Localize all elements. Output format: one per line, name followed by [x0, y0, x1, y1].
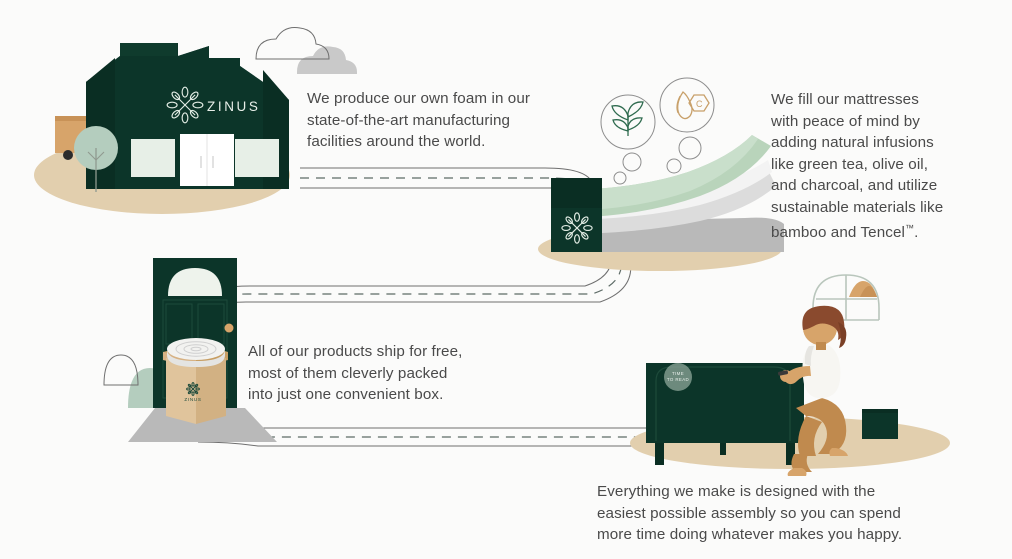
door-knob [225, 324, 234, 333]
caption-step-2-l1: We fill our mattresses [771, 91, 919, 108]
caption-step-3: All of our products ship for free, most … [248, 341, 462, 406]
factory-window-right [235, 139, 279, 177]
scene-bedroom: TIME TO READ [630, 275, 950, 476]
caption-step-2-l5: and charcoal, and utilize [771, 177, 937, 194]
factory-double-door [180, 134, 234, 186]
path-door-to-bedroom [198, 426, 690, 446]
bubble-small [623, 153, 641, 171]
scene-mattress: C [538, 78, 784, 271]
caption-step-2-l2: with peace of mind by [771, 113, 920, 130]
caption-step-2-l7: bamboo and Tencel [771, 224, 905, 241]
nightstand [862, 409, 898, 439]
open-box: ZINUS [163, 338, 228, 424]
factory-window-left [131, 139, 175, 177]
bed-badge-line2: TO READ [667, 377, 689, 382]
charcoal-carbon-icon: C [660, 78, 714, 132]
caption-step-2-l3: adding natural infusions [771, 134, 934, 151]
mattress-brand-block [551, 178, 602, 252]
bubble-tiny-right [667, 159, 681, 173]
infographic-illustration: ZINUS [0, 0, 1012, 559]
bed-badge-line1: TIME [672, 371, 684, 376]
factory-sign-text: ZINUS [207, 99, 261, 114]
trademark-symbol: ™ [905, 223, 914, 233]
caption-step-4: Everything we make is designed with the … [597, 481, 902, 546]
caption-step-2-l4: like green tea, olive oil, [771, 156, 928, 173]
box-brand-label: ZINUS [184, 397, 201, 402]
green-tea-leaf-icon [601, 95, 655, 149]
bubble-small-right [679, 137, 701, 159]
caption-step-1: We produce our own foam in our state-of-… [307, 88, 530, 153]
infographic-canvas: ZINUS [0, 0, 1012, 559]
caption-step-2: We fill our mattresseswith peace of mind… [771, 89, 943, 244]
caption-step-2-l6: sustainable materials like [771, 199, 943, 216]
bubble-tiny [614, 172, 626, 184]
bed-badge: TIME TO READ [664, 363, 692, 391]
caption-step-2-period: . [914, 224, 918, 241]
factory-building: ZINUS [86, 43, 289, 189]
svg-text:C: C [696, 99, 703, 109]
